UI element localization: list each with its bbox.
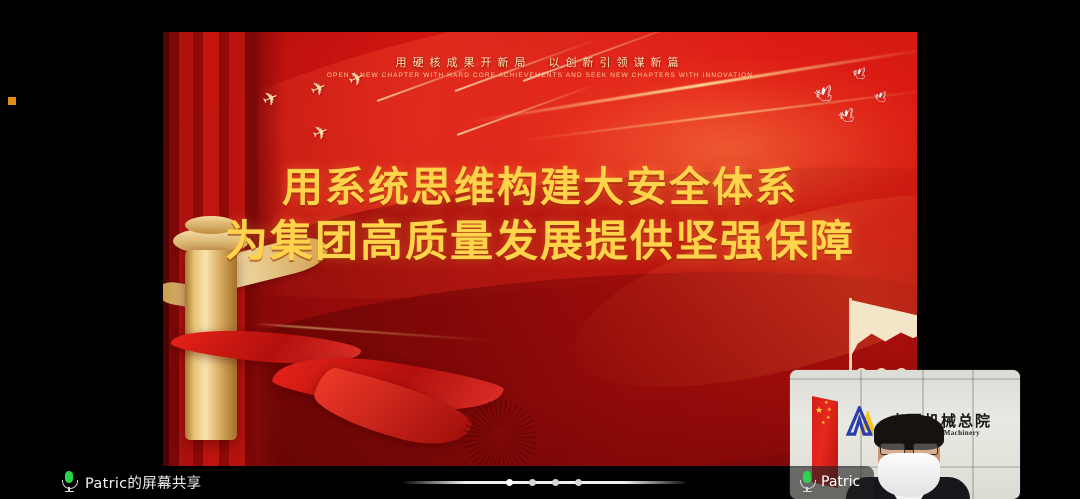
page-indicator-dot[interactable] [529, 479, 536, 486]
decor-airplane-icon: ✈ [308, 78, 330, 102]
slide-header: 用硬核成果开新局 以创新引领谋新篇 OPEN A NEW CHAPTER WIT… [163, 54, 917, 79]
page-indicator-dot[interactable] [552, 479, 559, 486]
screen-share-label-text: Patric的屏幕共享 [85, 472, 201, 493]
microphone-icon [800, 471, 814, 493]
meeting-stage: ✈✈✈✈ 🕊🕊🕊🕊 用硬核成果开新局 以创新引领谋新篇 OPEN A NEW C… [0, 0, 1080, 499]
screen-share-label: Patric的屏幕共享 [62, 471, 201, 493]
microphone-icon [62, 471, 76, 493]
face-mask [878, 453, 940, 497]
slide-header-en: OPEN A NEW CHAPTER WITH HARD CORE ACHIEV… [163, 72, 917, 79]
status-indicator-dot [8, 97, 16, 105]
page-indicator-rail [404, 481, 686, 484]
slide-title: 用系统思维构建大安全体系 为集团高质量发展提供坚强保障 [163, 160, 917, 270]
decor-airplane-icon: ✈ [310, 122, 332, 146]
page-indicator-dot[interactable] [575, 479, 582, 486]
participant-video-tile[interactable]: ★ ★ ★ ★ ★ 中国机械总院 Academy of Machinery Pa… [790, 370, 1020, 499]
participant-name: Patric [821, 474, 860, 490]
slide-title-line-2: 为集团高质量发展提供坚强保障 [163, 215, 917, 270]
slide-header-cn: 用硬核成果开新局 以创新引领谋新篇 [163, 54, 917, 70]
participant-name-badge: Patric [790, 466, 874, 499]
slide-page-indicator[interactable] [404, 479, 686, 486]
decor-firework-burst [463, 400, 537, 466]
slide-title-line-1: 用系统思维构建大安全体系 [163, 160, 917, 215]
page-indicator-dot[interactable] [506, 479, 513, 486]
